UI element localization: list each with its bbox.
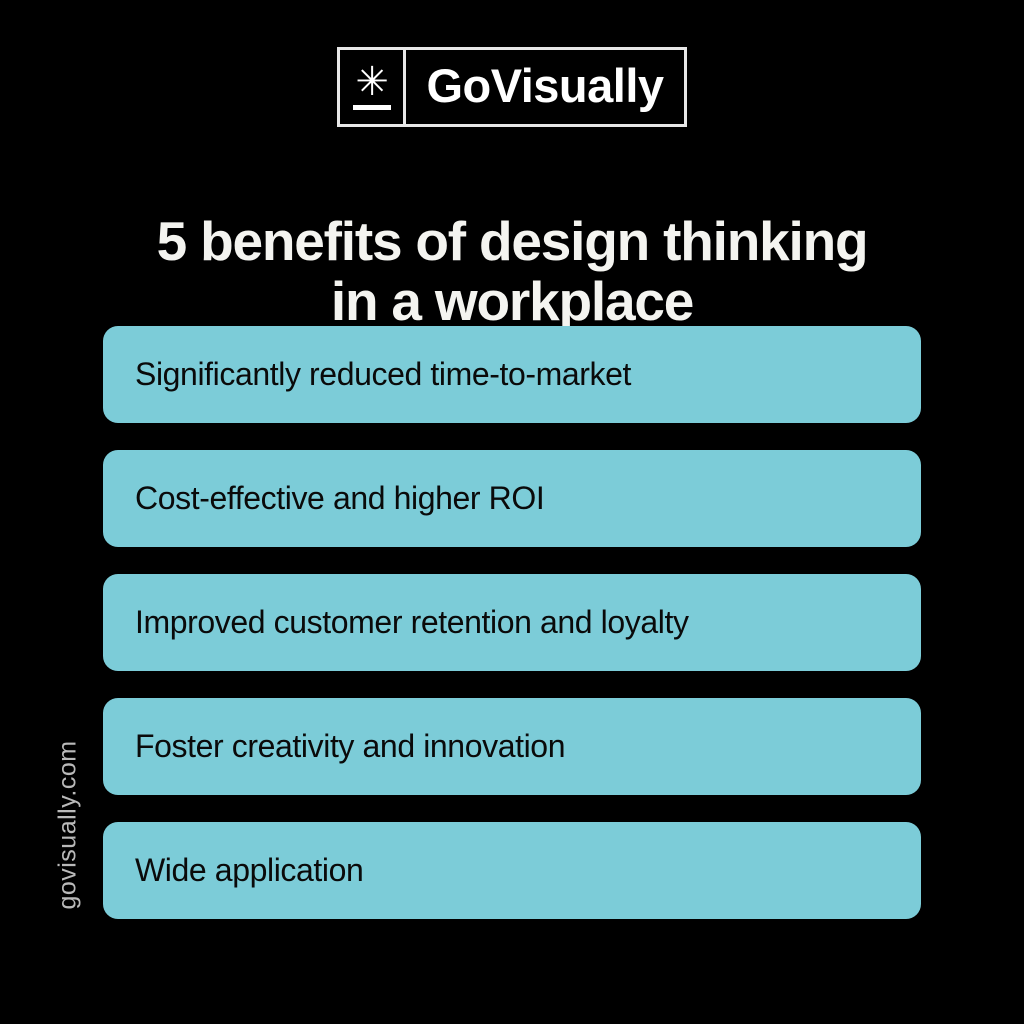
logo-wordmark: GoVisually — [406, 50, 683, 124]
asterisk-icon: ✳ — [355, 69, 389, 95]
benefit-item-4[interactable]: Foster creativity and innovation — [103, 698, 921, 795]
logo-wordmark-text: GoVisually — [426, 62, 663, 109]
logo-frame: ✳ GoVisually — [337, 47, 686, 127]
benefit-label: Foster creativity and innovation — [135, 728, 565, 765]
benefit-item-1[interactable]: Significantly reduced time-to-market — [103, 326, 921, 423]
benefit-label: Cost-effective and higher ROI — [135, 480, 544, 517]
benefits-list: Significantly reduced time-to-market Cos… — [103, 326, 921, 919]
watermark-url: govisually.com — [54, 740, 83, 909]
asterisk-underline-icon: ✳ — [340, 50, 406, 124]
benefit-label: Wide application — [135, 852, 363, 889]
benefit-item-5[interactable]: Wide application — [103, 822, 921, 919]
benefit-item-2[interactable]: Cost-effective and higher ROI — [103, 450, 921, 547]
page-title-line-1: 5 benefits of design thinking — [62, 211, 962, 272]
benefit-label: Significantly reduced time-to-market — [135, 356, 631, 393]
poster-canvas: ✳ GoVisually 5 benefits of design thinki… — [0, 0, 1024, 1024]
benefit-item-3[interactable]: Improved customer retention and loyalty — [103, 574, 921, 671]
benefit-label: Improved customer retention and loyalty — [135, 604, 689, 641]
page-title: 5 benefits of design thinking in a workp… — [62, 211, 962, 332]
underline-bar-icon — [353, 105, 391, 110]
page-title-line-2: in a workplace — [62, 271, 962, 332]
brand-logo[interactable]: ✳ GoVisually — [0, 47, 1024, 127]
